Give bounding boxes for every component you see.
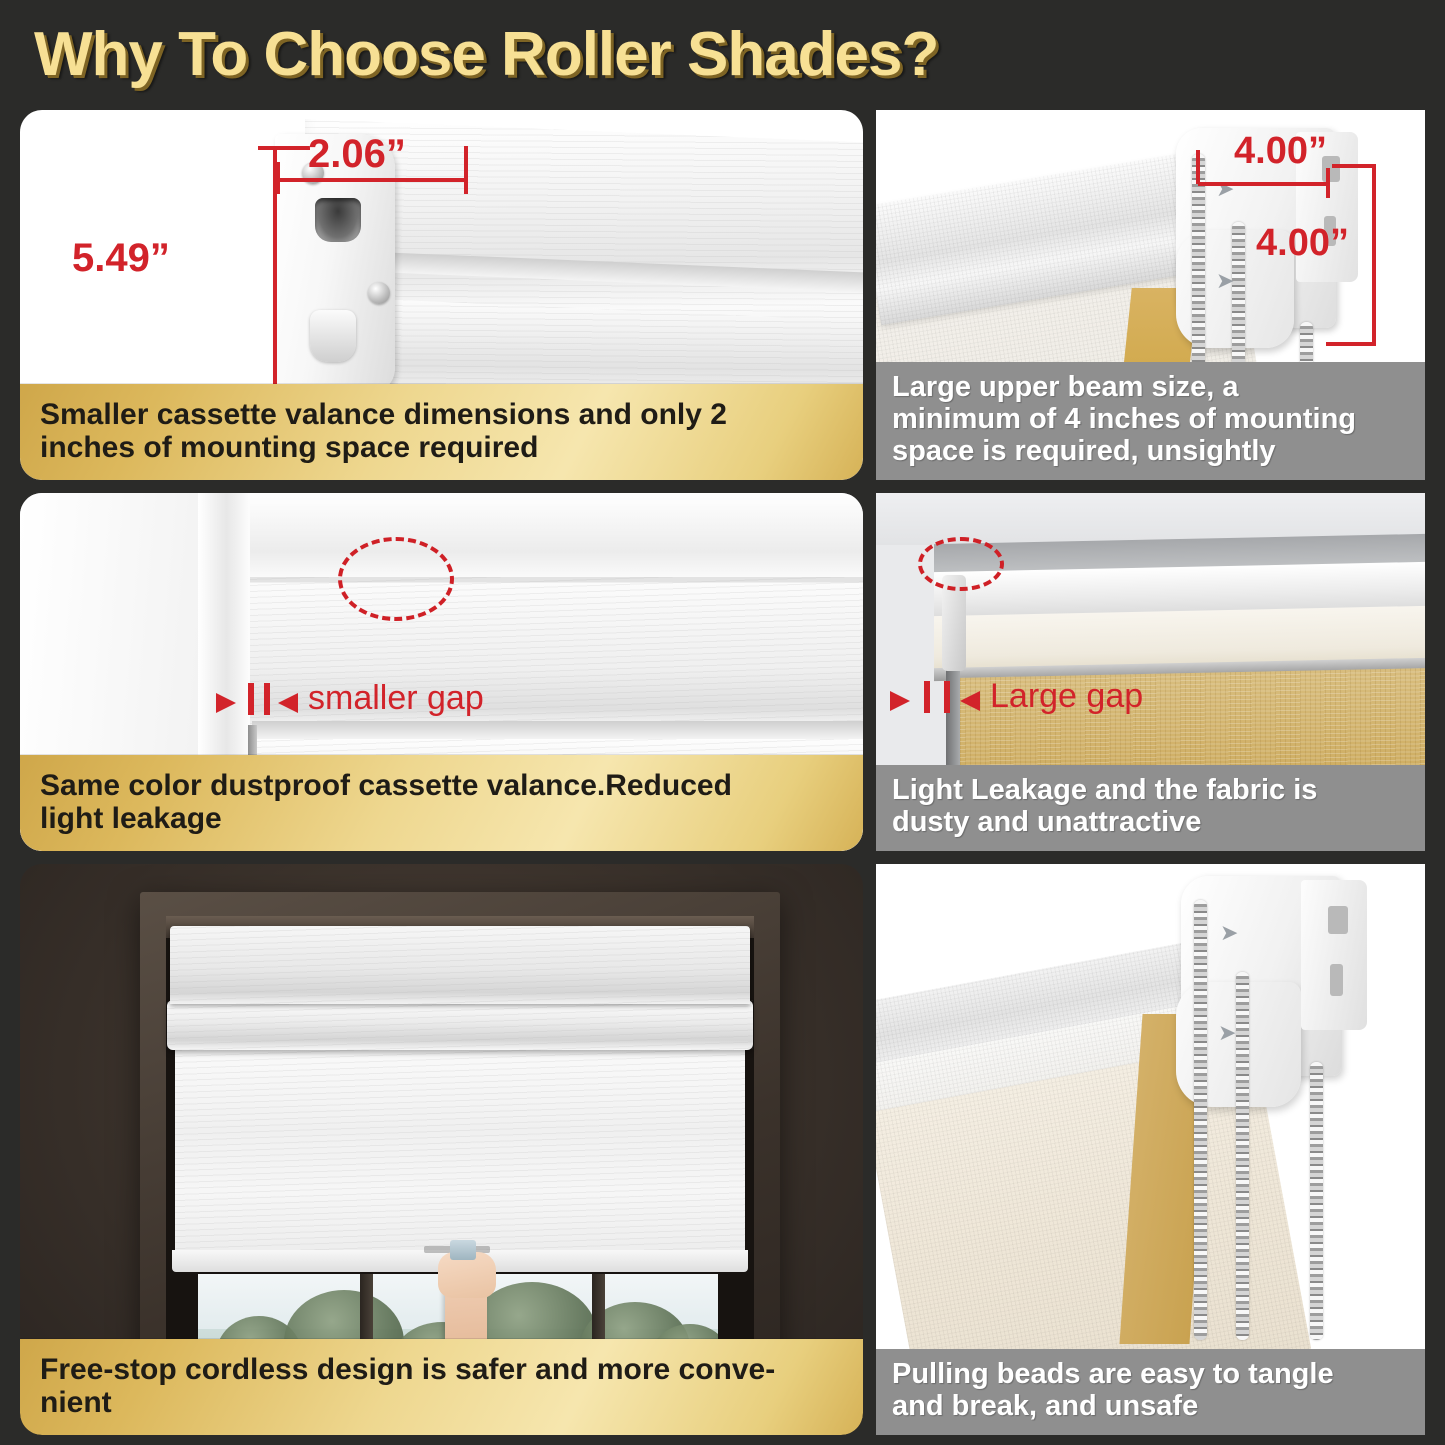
panel-4-caption: Light Leakage and the fabric is dusty an… [876, 765, 1425, 851]
roller-tube [167, 1000, 753, 1050]
caption-line: nient [40, 1386, 845, 1419]
height-tick-top [258, 146, 310, 150]
gap-label: Large gap [990, 677, 1143, 716]
comparison-grid: 2.06” 5.49” Smaller cassette valance dim… [20, 110, 1425, 1435]
shade-fabric [175, 1048, 745, 1254]
pull-tab [450, 1240, 476, 1260]
bracket-slot-icon [1330, 964, 1343, 996]
bead-chain-front [1194, 900, 1207, 1340]
bead-chain-back [1310, 1062, 1323, 1340]
panel-2: ➤ ➤ 4.00” 4.00” Large upper beam size, a… [876, 110, 1425, 480]
gap-marker-right [264, 683, 270, 715]
width-dimension-line [1198, 182, 1330, 186]
caption-line: Free-stop cordless design is safer and m… [40, 1353, 845, 1386]
bracket-hole-icon [1328, 906, 1348, 934]
height-tick-top [1332, 164, 1376, 168]
bead-chain-mid [1236, 972, 1249, 1340]
caption-line: minimum of 4 inches of mounting [892, 404, 1411, 436]
panel-1-caption: Smaller cassette valance dimensions and … [20, 384, 863, 480]
panel-3-caption: Same color dustproof cassette valance.Re… [20, 755, 863, 851]
caption-line: light leakage [40, 802, 845, 835]
valance-lip [252, 721, 863, 739]
caption-line: Large upper beam size, a [892, 372, 1411, 404]
gap-arrow-left-icon [960, 691, 980, 711]
width-dimension-line [278, 178, 468, 182]
width-tick-left [1196, 150, 1200, 184]
panel-1: 2.06” 5.49” Smaller cassette valance dim… [20, 110, 863, 480]
grid-gutter [20, 480, 1425, 493]
gap-label: smaller gap [308, 679, 484, 718]
gap-marker-left [924, 681, 930, 713]
bracket-arrow-icon: ➤ [1220, 920, 1238, 946]
grid-gutter [863, 110, 876, 480]
grid-gutter [863, 493, 876, 851]
width-tick-right [464, 146, 468, 194]
width-dimension-label: 2.06” [308, 132, 406, 177]
highlight-ellipse [918, 537, 1004, 591]
cap-knob [310, 310, 356, 362]
gap-marker-right [944, 681, 950, 713]
caption-line: Same color dustproof cassette valance.Re… [40, 769, 845, 802]
caption-line: and break, and unsafe [892, 1391, 1411, 1423]
caption-line: Pulling beads are easy to tangle [892, 1359, 1411, 1391]
caption-line: Smaller cassette valance dimensions and … [40, 398, 845, 431]
panel-5-caption: Free-stop cordless design is safer and m… [20, 1339, 863, 1435]
bracket-arrow-icon: ➤ [1218, 1020, 1236, 1046]
cap-slot [315, 198, 361, 242]
height-dimension-line [273, 148, 277, 398]
page-header: Why To Choose Roller Shades? [0, 0, 1445, 108]
grid-gutter [863, 864, 876, 1435]
caption-line: inches of mounting space required [40, 431, 845, 464]
width-dimension-label: 4.00” [1234, 130, 1327, 173]
gap-arrow-right-icon [890, 691, 910, 711]
screw-mid-icon [368, 282, 390, 304]
bracket-plate [1301, 880, 1367, 1030]
height-dimension-label: 4.00” [1256, 222, 1349, 265]
panel-2-caption: Large upper beam size, a minimum of 4 in… [876, 362, 1425, 480]
gap-arrow-left-icon [278, 693, 298, 713]
height-dimension-label: 5.49” [72, 236, 170, 281]
panel-6: ➤ ➤ Pulling beads are easy to tangle and… [876, 864, 1425, 1435]
panel-4: Large gap Light Leakage and the fabric i… [876, 493, 1425, 851]
panel-5: Free-stop cordless design is safer and m… [20, 864, 863, 1435]
panel-3: smaller gap Same color dustproof cassett… [20, 493, 863, 851]
cassette-valance [170, 926, 750, 1004]
page-title: Why To Choose Roller Shades? [34, 19, 938, 90]
caption-line: dusty and unattractive [892, 807, 1411, 839]
height-dimension-line [1372, 166, 1376, 346]
panel-6-caption: Pulling beads are easy to tangle and bre… [876, 1349, 1425, 1435]
caption-line: space is required, unsightly [892, 436, 1411, 468]
highlight-ellipse [338, 537, 454, 621]
caption-line: Light Leakage and the fabric is [892, 775, 1411, 807]
bracket-arrow-icon: ➤ [1216, 176, 1234, 202]
grid-gutter [20, 851, 1425, 864]
window-head-trim [198, 493, 863, 577]
height-tick-bottom [1326, 342, 1376, 346]
bracket-arrow-icon: ➤ [1216, 268, 1234, 294]
gap-marker-left [248, 683, 254, 715]
gap-arrow-right-icon [216, 693, 236, 713]
